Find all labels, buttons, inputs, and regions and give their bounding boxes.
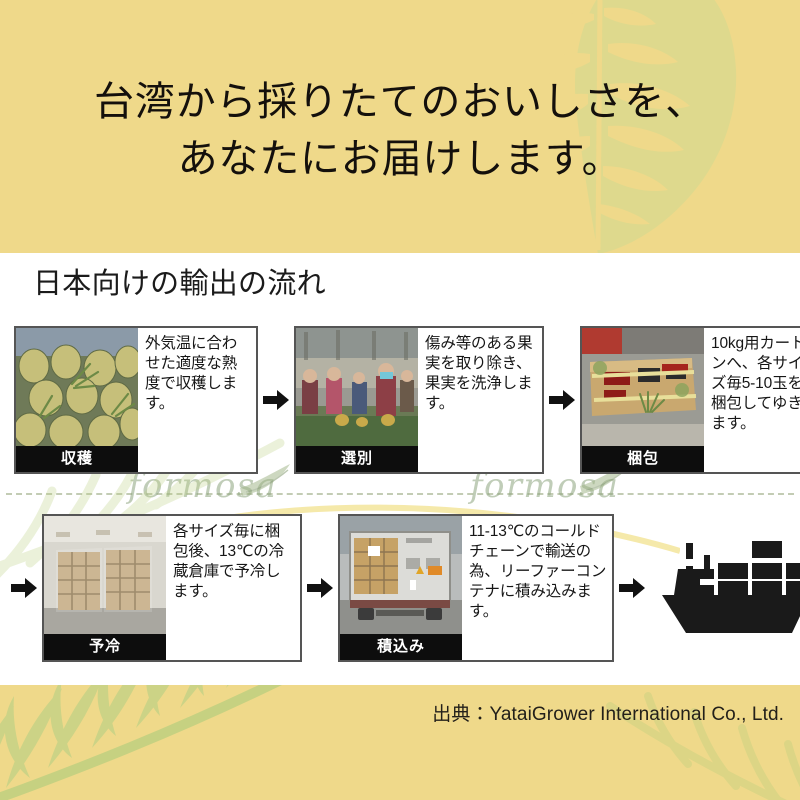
cargo-ship-icon xyxy=(656,533,800,643)
process-flow-row-1: 収穫 外気温に合わせた適度な熟度で収穫します。 xyxy=(14,326,800,474)
right-arrow-icon xyxy=(262,389,290,411)
source-attribution: 出典：YataiGrower International Co., Ltd. xyxy=(432,699,784,726)
palm-frond-icon xyxy=(0,685,400,800)
process-step-card: 梱包 10kg用カートンへ、各サイズ毎5-10玉を梱包してゆきます。 xyxy=(580,326,800,474)
step-photo: 梱包 xyxy=(582,328,704,472)
step-caption: 選別 xyxy=(296,446,418,472)
page-headline: 台湾から採りたてのおいしさを、 あなたにお届けします。 xyxy=(0,74,800,188)
right-arrow-icon xyxy=(306,577,334,599)
process-step-card: 積込み 11-13℃のコールドチェーンで輸送の為、リーファーコンテナに積み込みま… xyxy=(338,514,614,662)
step-photo: 積込み xyxy=(340,516,462,660)
right-arrow-icon xyxy=(618,577,646,599)
process-step-card: 予冷 各サイズ毎に梱包後、13℃の冷蔵倉庫で予冷します。 xyxy=(42,514,302,662)
process-step-card: 選別 傷み等のある果実を取り除き、果実を洗浄します。 xyxy=(294,326,544,474)
sorting-line-workers-photo xyxy=(296,328,418,446)
footer-band: 出典：YataiGrower International Co., Ltd. xyxy=(0,685,800,800)
process-flow-row-2: 予冷 各サイズ毎に梱包後、13℃の冷蔵倉庫で予冷します。 xyxy=(6,514,800,662)
packed-carton-boxes-photo xyxy=(582,328,704,446)
reefer-container-truck-photo xyxy=(340,516,462,634)
step-description: 10kg用カートンへ、各サイズ毎5-10玉を梱包してゆきます。 xyxy=(704,328,800,472)
header-band: 台湾から採りたてのおいしさを、 あなたにお届けします。 xyxy=(0,0,800,253)
infographic-page: 台湾から採りたてのおいしさを、 あなたにお届けします。 日本向けの輸出の流れ f… xyxy=(0,0,800,800)
step-photo: 選別 xyxy=(296,328,418,472)
step-photo: 予冷 xyxy=(44,516,166,660)
step-caption: 梱包 xyxy=(582,446,704,472)
step-caption: 収穫 xyxy=(16,446,138,472)
cold-storage-warehouse-photo xyxy=(44,516,166,634)
step-photo: 収穫 xyxy=(16,328,138,472)
right-arrow-icon xyxy=(548,389,576,411)
step-description: 11-13℃のコールドチェーンで輸送の為、リーファーコンテナに積み込みます。 xyxy=(462,516,612,660)
step-description: 外気温に合わせた適度な熟度で収穫します。 xyxy=(138,328,256,472)
right-arrow-icon xyxy=(10,577,38,599)
step-description: 各サイズ毎に梱包後、13℃の冷蔵倉庫で予冷します。 xyxy=(166,516,300,660)
process-step-card: 収穫 外気温に合わせた適度な熟度で収穫します。 xyxy=(14,326,258,474)
step-caption: 積込み xyxy=(340,634,462,660)
pineapple-harvest-photo xyxy=(16,328,138,446)
step-description: 傷み等のある果実を取り除き、果実を洗浄します。 xyxy=(418,328,542,472)
step-caption: 予冷 xyxy=(44,634,166,660)
section-title: 日本向けの輸出の流れ xyxy=(33,270,326,299)
